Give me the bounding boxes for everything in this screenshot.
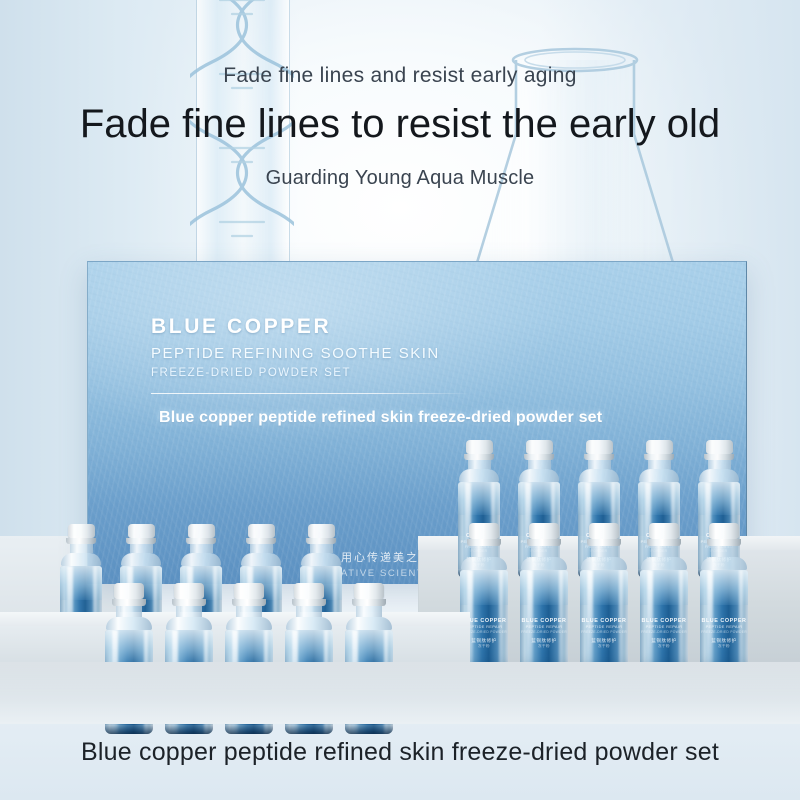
floor-reflection: [0, 662, 800, 702]
vial-crimp-ring: [352, 599, 386, 606]
vial-neck: [468, 460, 491, 469]
vial-crimp-ring: [112, 599, 146, 606]
vial-neck: [528, 460, 551, 469]
vial-neck: [70, 544, 93, 553]
vial-base-shadow: [345, 725, 393, 734]
vial-cap: [589, 523, 619, 539]
headline-block: Fade fine lines and resist early aging F…: [0, 0, 800, 190]
vial-body: BLUE COPPERPEPTIDE REPAIRFREEZE-DRIED PO…: [640, 570, 688, 674]
vial-crimp-ring: [527, 539, 561, 546]
vial-label: BLUE COPPERPEPTIDE REPAIRFREEZE-DRIED PO…: [520, 618, 568, 649]
vial-crimp-ring: [647, 539, 681, 546]
vial-label: BLUE COPPERPEPTIDE REPAIRFREEZE-DRIED PO…: [640, 618, 688, 649]
product-subtitle-line: PEPTIDE REFINING SOOTHE SKIN: [151, 345, 691, 362]
bottom-caption: Blue copper peptide refined skin freeze-…: [0, 738, 800, 767]
vial-crimp-ring: [232, 599, 266, 606]
vial-label-chinese-2: 冻干粉: [640, 644, 688, 649]
vial-shoulder: [301, 553, 341, 566]
vial-shoulder: [346, 617, 392, 630]
vial-shoulder: [521, 557, 567, 570]
vial-label: BLUE COPPERPEPTIDE REPAIRFREEZE-DRIED PO…: [580, 618, 628, 649]
vial-label-brand: BLUE COPPER: [640, 618, 688, 625]
vial-base-shadow: [225, 725, 273, 734]
vial-cap: [128, 524, 155, 538]
vial-crimp-ring: [172, 599, 206, 606]
vial-cap: [526, 440, 553, 454]
vial-neck: [651, 546, 677, 557]
vial-neck: [190, 544, 213, 553]
vial-shoulder: [641, 557, 687, 570]
vial-label-chinese-2: 冻干粉: [580, 644, 628, 649]
vial-base-shadow: [105, 725, 153, 734]
vial-cap: [114, 583, 144, 599]
vial-neck: [531, 546, 557, 557]
vial-shoulder: [226, 617, 272, 630]
vial-cap: [68, 524, 95, 538]
vial-cap: [188, 524, 215, 538]
vial-label-line2: PEPTIDE REPAIR: [520, 624, 568, 629]
vial-cap: [248, 524, 275, 538]
vial-label-line2: PEPTIDE REPAIR: [580, 624, 628, 629]
vial-label: BLUE COPPERPEPTIDE REPAIRFREEZE-DRIED PO…: [700, 618, 748, 649]
vial-shoulder: [701, 557, 747, 570]
vial-cap: [308, 524, 335, 538]
vial-neck: [711, 546, 737, 557]
headline-kicker: Fade fine lines and resist early aging: [0, 64, 800, 88]
vial-label-line3: FREEZE-DRIED POWDER: [640, 630, 688, 634]
page-title: Fade fine lines to resist the early old: [0, 102, 800, 147]
vial-label-line3: FREEZE-DRIED POWDER: [700, 630, 748, 634]
vial-shoulder: [121, 553, 161, 566]
vial-label-line2: PEPTIDE REPAIR: [700, 624, 748, 629]
vial-cap: [174, 583, 204, 599]
vial-label-brand: BLUE COPPER: [700, 618, 748, 625]
vial-cap: [706, 440, 733, 454]
vial-shoulder: [639, 469, 679, 482]
vial-neck: [471, 546, 497, 557]
vial-label-line3: FREEZE-DRIED POWDER: [520, 630, 568, 634]
vial-base-shadow: [285, 725, 333, 734]
product-vial: BLUE COPPERPEPTIDE REPAIRFREEZE-DRIED PO…: [698, 523, 750, 674]
vial-shoulder: [579, 469, 619, 482]
vial-cap: [466, 440, 493, 454]
vial-shoulder: [699, 469, 739, 482]
vial-label-brand: BLUE COPPER: [520, 618, 568, 625]
vial-label-brand: BLUE COPPER: [580, 618, 628, 625]
vial-neck: [236, 606, 262, 617]
vial-neck: [176, 606, 202, 617]
vial-label-line3: FREEZE-DRIED POWDER: [580, 630, 628, 634]
product-type-line: FREEZE-DRIED POWDER SET: [151, 367, 691, 379]
vial-shoulder: [106, 617, 152, 630]
product-advertisement: Fade fine lines and resist early aging F…: [0, 0, 800, 800]
vial-neck: [591, 546, 617, 557]
vial-neck: [310, 544, 333, 553]
vial-neck: [116, 606, 142, 617]
vial-crimp-ring: [707, 539, 741, 546]
vial-label-chinese-2: 冻干粉: [700, 644, 748, 649]
vial-shoulder: [181, 553, 221, 566]
vial-shoulder: [61, 553, 101, 566]
product-brand-name: BLUE COPPER: [151, 315, 691, 339]
vial-cap: [649, 523, 679, 539]
headline-subtitle: Guarding Young Aqua Muscle: [0, 167, 800, 190]
vial-base-shadow: [165, 725, 213, 734]
vial-cap: [469, 523, 499, 539]
vial-neck: [588, 460, 611, 469]
vial-shoulder: [459, 469, 499, 482]
product-vial: BLUE COPPERPEPTIDE REPAIRFREEZE-DRIED PO…: [518, 523, 570, 674]
vial-cap: [646, 440, 673, 454]
vial-neck: [250, 544, 273, 553]
vial-shoulder: [166, 617, 212, 630]
vial-cap: [294, 583, 324, 599]
vial-neck: [708, 460, 731, 469]
vial-neck: [356, 606, 382, 617]
vial-shoulder: [286, 617, 332, 630]
vial-body: BLUE COPPERPEPTIDE REPAIRFREEZE-DRIED PO…: [580, 570, 628, 674]
product-vial: BLUE COPPERPEPTIDE REPAIRFREEZE-DRIED PO…: [638, 523, 690, 674]
vial-body: BLUE COPPERPEPTIDE REPAIRFREEZE-DRIED PO…: [700, 570, 748, 674]
vial-neck: [130, 544, 153, 553]
vial-crimp-ring: [467, 539, 501, 546]
vial-cap: [234, 583, 264, 599]
vial-shoulder: [581, 557, 627, 570]
product-vial: BLUE COPPERPEPTIDE REPAIRFREEZE-DRIED PO…: [578, 523, 630, 674]
product-box-divider: [151, 393, 471, 394]
product-box-copy: BLUE COPPER PEPTIDE REFINING SOOTHE SKIN…: [151, 315, 691, 427]
vial-cap: [586, 440, 613, 454]
vial-cap: [354, 583, 384, 599]
vial-label-chinese-2: 冻干粉: [520, 644, 568, 649]
vial-body: BLUE COPPERPEPTIDE REPAIRFREEZE-DRIED PO…: [520, 570, 568, 674]
vial-cap: [529, 523, 559, 539]
vial-shoulder: [241, 553, 281, 566]
vial-shoulder: [461, 557, 507, 570]
vial-cap: [709, 523, 739, 539]
vial-neck: [296, 606, 322, 617]
product-tagline: Blue copper peptide refined skin freeze-…: [159, 409, 691, 427]
vial-neck: [648, 460, 671, 469]
vial-crimp-ring: [292, 599, 326, 606]
vial-shoulder: [519, 469, 559, 482]
vial-crimp-ring: [587, 539, 621, 546]
vial-label-line2: PEPTIDE REPAIR: [640, 624, 688, 629]
